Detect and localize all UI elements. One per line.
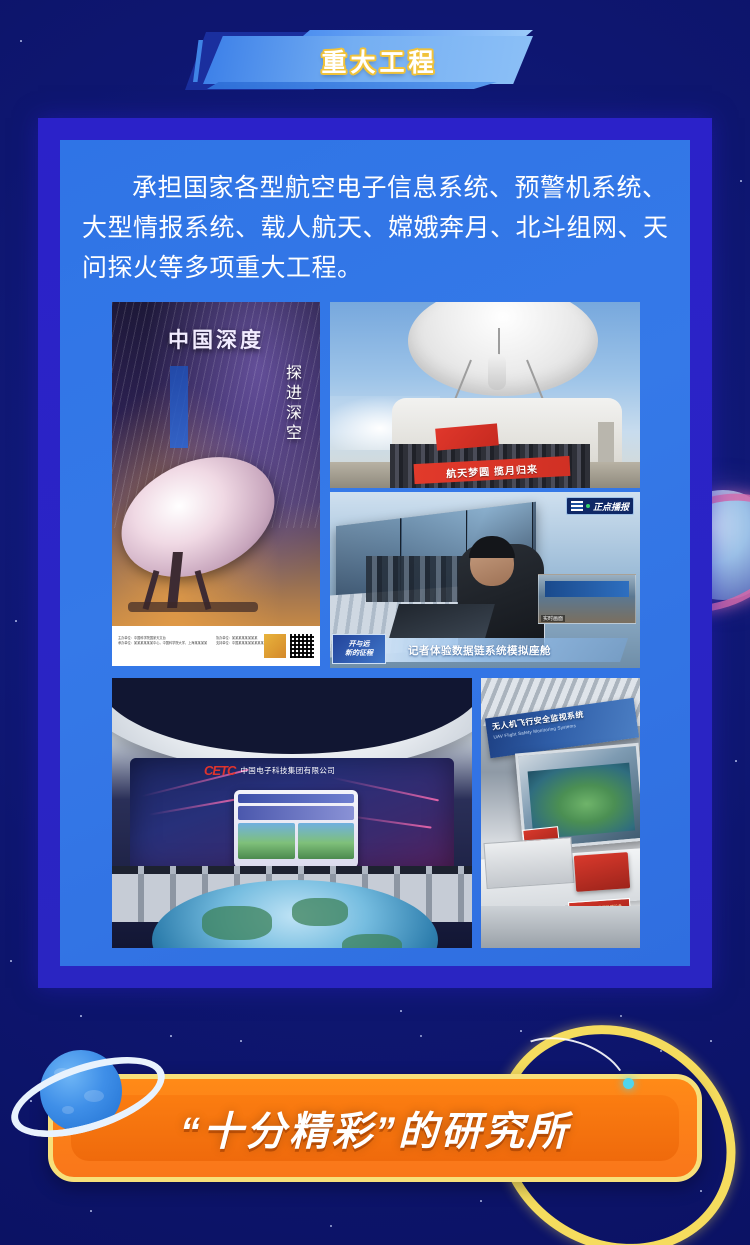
slide-images: [238, 823, 354, 859]
photo-antenna-group: 航天梦圆 揽月归来: [330, 302, 640, 488]
red-equipment-unit: [574, 852, 630, 892]
qr-code-icon: [290, 634, 314, 658]
poster-blue-strip: [170, 366, 188, 448]
poster-footer-bar: 主办单位：中国科学院国家天文台 承办单位：某某某某某某中心，中国科学院大学，上海…: [112, 626, 320, 666]
inset-video: 实时画面: [538, 574, 636, 624]
telescope-base: [128, 602, 258, 612]
station-dot-icon: [586, 504, 590, 508]
star: [735, 760, 737, 762]
cetc-logo-mark: CETC: [204, 763, 235, 778]
poster-title: 中国深度: [112, 324, 320, 354]
footer-title: “十分精彩”的研究所: [0, 1074, 750, 1182]
dish-feed-horn: [488, 354, 506, 390]
photo-poster-china-depth: 中国深度 探进深空 主办单位：中国科学院国家天文台 承办单位：某某某某某某中心，…: [112, 302, 320, 666]
star: [15, 620, 17, 622]
photo-tv-news-datalink: 实时画面 正点播报 记者体验数据链系统模拟座舱 开与远 新的征程: [330, 492, 640, 668]
equipment-chassis: [484, 837, 575, 889]
poster-credits-left: 主办单位：中国科学院国家天文台 承办单位：某某某某某某中心，中国科学院大学，上海…: [118, 636, 207, 646]
station-name: 正点播报: [593, 500, 629, 513]
cetc-logo-text: 中国电子科技集团有限公司: [240, 765, 335, 776]
presentation-slide: [234, 790, 358, 868]
inset-screen: [545, 581, 629, 597]
booth-floor: [481, 906, 640, 948]
tv-station-logo: 正点播报: [566, 497, 634, 515]
laptop-icon: [389, 604, 495, 638]
slide-header: [238, 794, 354, 803]
inset-label: 实时画面: [541, 615, 565, 622]
poster-seal-icon: [264, 634, 286, 658]
star: [20, 40, 22, 42]
star: [740, 180, 742, 182]
body-paragraph: 承担国家各型航空电子信息系统、预警机系统、大型情报系统、载人航天、嫦娥奔月、北斗…: [82, 168, 676, 288]
station-mark-icon: [571, 501, 583, 511]
poster-credits-right: 协办单位：某某某某某某某某 支持单位：中国某某某某某某某某: [216, 636, 264, 646]
news-caption-text: 记者体验数据链系统模拟座舱: [408, 643, 551, 658]
building-door: [598, 422, 614, 464]
header-title: 重大工程: [185, 30, 540, 92]
poster-page: 重大工程 承担国家各型航空电子信息系统、预警机系统、大型情报系统、载人航天、嫦娥…: [0, 0, 750, 1245]
footer-banner: “十分精彩”的研究所: [0, 1012, 750, 1245]
star: [10, 960, 12, 962]
poster-vertical-title: 探进深空: [276, 364, 302, 444]
header-banner: 重大工程: [185, 30, 540, 92]
photo-exhibition-booth: 无人机飞行安全监视系统 UAV Flight Safety Monitoring…: [481, 678, 640, 948]
slide-text-block: [238, 806, 354, 820]
photo-command-center: CETC 中国电子科技集团有限公司: [112, 678, 472, 948]
cetc-logo: CETC 中国电子科技集团有限公司: [204, 762, 384, 778]
program-logo-icon: 开与远 新的征程: [332, 634, 386, 664]
news-caption-bar: 记者体验数据链系统模拟座舱: [364, 638, 628, 662]
